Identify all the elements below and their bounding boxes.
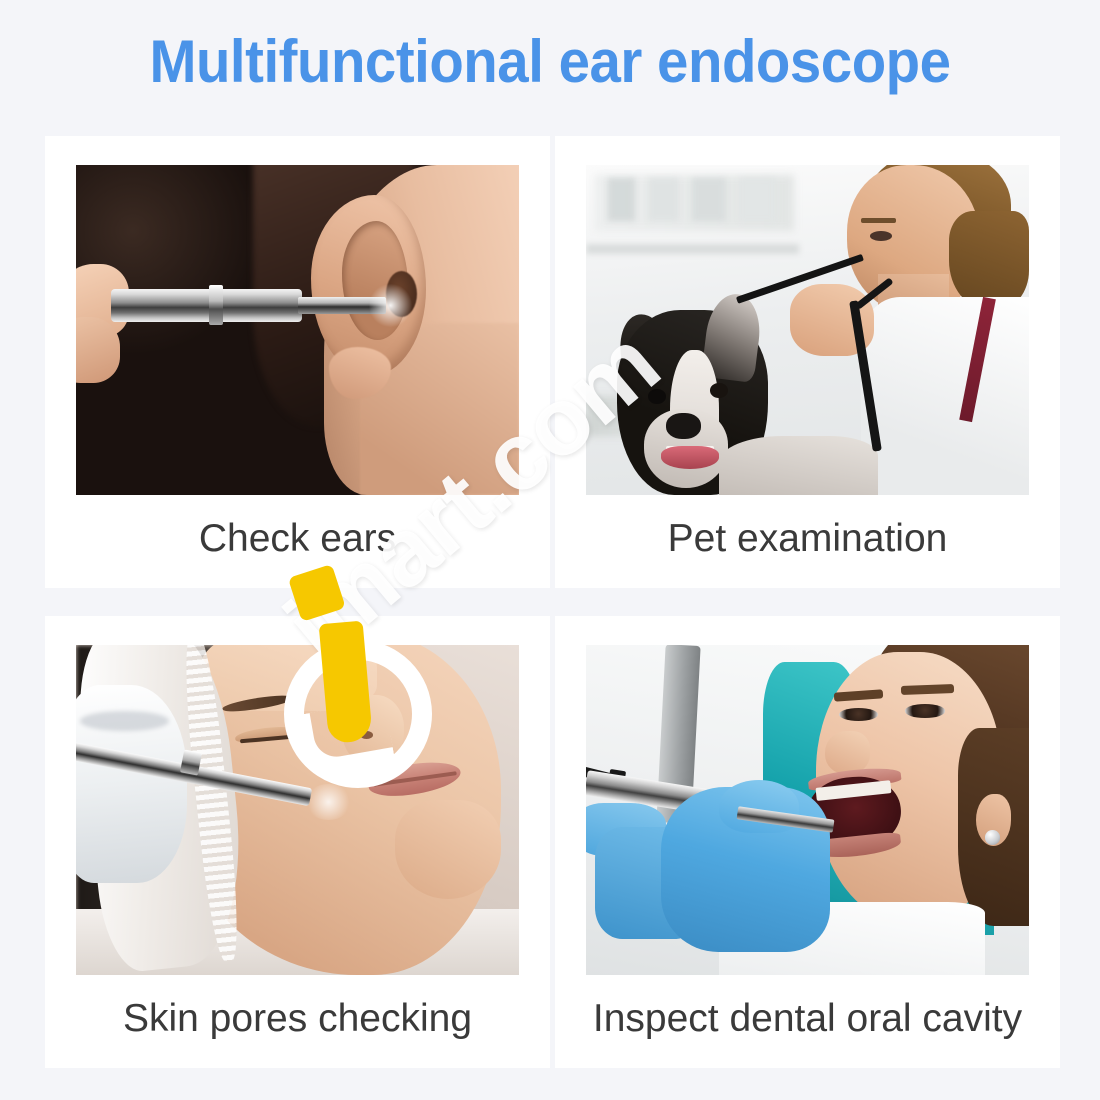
feature-card-label: Inspect dental oral cavity [593,995,1022,1043]
vet-hair-back [949,211,1029,310]
dog-mouth [661,446,719,469]
glove-fold [80,711,169,731]
patient-eyebrow-right [900,684,953,694]
patient-nose [825,731,869,774]
dog-body [719,436,878,495]
feature-card-label: Skin pores checking [123,995,472,1043]
photo-skin-pores-checking [76,645,519,975]
shelf-bottles [608,178,776,221]
feature-card-skin-pores-checking[interactable]: Skin pores checking [45,616,550,1068]
photo-check-ears [76,165,519,495]
vet-eyebrow [861,218,896,223]
feature-card-check-ears[interactable]: Check ears [45,136,550,588]
endoscope-body [111,289,301,322]
feature-card-pet-examination[interactable]: Pet examination [555,136,1060,588]
patient-earring [985,830,1001,845]
page-title: Multifunctional ear endoscope [33,26,1067,98]
feature-card-grid: Check ears [45,136,1060,1068]
client-nostril [360,731,373,739]
patient-eye-left [839,708,879,721]
patient-eye-right [905,704,945,717]
feature-card-label: Check ears [199,515,396,563]
dog-nose [666,413,701,439]
dog-eye-right [710,383,728,398]
shelf-edge [586,244,799,254]
feature-card-label: Pet examination [668,515,948,563]
endoscope-light-glow [368,284,412,327]
photo-inspect-dental-oral-cavity [586,645,1029,975]
vet-eye [870,231,892,241]
endoscope-light-glow [306,784,350,820]
dog-eye-left [648,389,666,404]
photo-pet-examination [586,165,1029,495]
client-chin [395,800,501,899]
feature-card-inspect-dental-oral-cavity[interactable]: Inspect dental oral cavity [555,616,1060,1068]
vet-lab-coat [861,297,1029,495]
endoscope-ring [209,285,223,325]
client-nose [342,695,404,768]
